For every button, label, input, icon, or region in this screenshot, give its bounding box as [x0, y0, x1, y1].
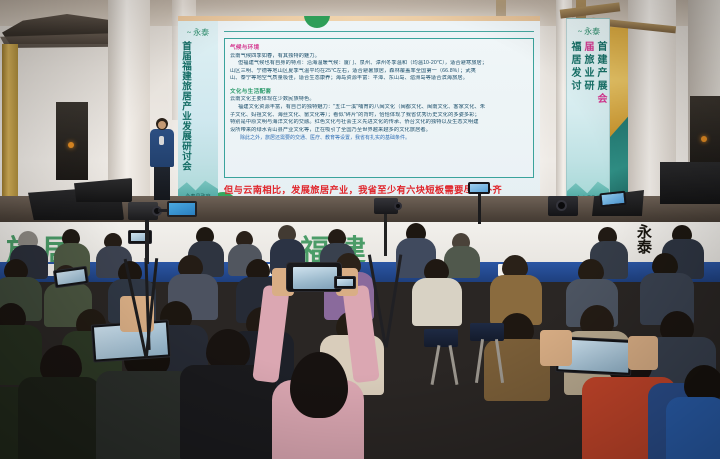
rollup-char: 研 [583, 80, 596, 93]
rollup-char: 展 [596, 80, 609, 93]
line-array-speaker-left [56, 102, 88, 180]
slide-banner-title: 首届福建旅居产业发展研讨会 [179, 41, 217, 169]
camera-lens-icon [556, 200, 567, 211]
slide-divider-line [224, 31, 534, 32]
slide-body-line: 特别是中原文明与海洋文化的交融。红色文化与社会主义先进文化的传承、侨台文化的独特… [230, 119, 528, 127]
speaker-led-indicator [701, 136, 707, 142]
camera-lens-icon [394, 202, 402, 210]
microphone-icon [159, 136, 164, 145]
conference-photo-scene: ~ 永泰 首届福建旅居产业发展研讨会 永泰县政府 气候与环境 云南气候四季如春，… [0, 0, 720, 459]
rollup-char: 届 [583, 41, 596, 54]
foreground-phone-screen [293, 267, 337, 289]
rollup-char: 业 [583, 67, 596, 80]
rollup-banner: ~ 永泰 首届福建旅居产业发展研讨会 永泰县政府 [566, 18, 610, 206]
presenter-face [158, 121, 166, 129]
camera-monitor-screen[interactable] [167, 201, 197, 217]
section-heading-climate: 气候与环境 [230, 43, 528, 51]
audience-hand [628, 336, 658, 370]
slide-body-note: 除此之外，旅居还需要的交通、医疗、教育等设置，我省有扎实的基础条件。 [230, 134, 528, 142]
rollup-char: 福 [570, 41, 583, 54]
chair-leg [449, 345, 459, 385]
tripod-center-column [145, 214, 149, 264]
handheld-phone-recording[interactable] [599, 191, 626, 208]
rollup-char: 旅 [583, 54, 596, 67]
slide-body-line: 云南气候四季如春，有其独特的魅力。 [230, 53, 528, 61]
presenter-jacket [150, 129, 174, 167]
slide-body-line: 子文化、妈祖文化、海丝文化、畲文化等）；看似"碎片"的背时，恰恰体现了我省优秀历… [230, 112, 528, 120]
mounted-phone[interactable] [468, 182, 490, 194]
slide-body-line: 山区三明、宁德等地山区夏季气温平均在25℃左右，适合避暑旅居，森林覆盖率全国第一… [230, 68, 528, 76]
camera-stand-column [384, 212, 387, 256]
slide-body-line: 山、泰宁等地空气质量极佳，适合生态康养；海岛资源丰富：平潭、东山岛、湄洲岛等适合… [230, 75, 528, 83]
stage-equipment-case-right [660, 162, 720, 204]
rollup-banner-title: 首届福建旅居产业发展研讨会 [569, 41, 609, 173]
foreground-person-torso [666, 397, 720, 459]
projection-screen: ~ 永泰 首届福建旅居产业发展研讨会 永泰县政府 气候与环境 云南气候四季如春，… [178, 16, 540, 202]
foreground-person-torso [96, 371, 192, 459]
slide-banner-logo: ~ 永泰 [183, 26, 213, 39]
rollup-char: 居 [570, 54, 583, 67]
slide-content-box: 气候与环境 云南气候四季如春，有其独特的魅力。 但福建气候也有自身的特点：沿海温… [224, 38, 534, 178]
rollup-char: 产 [596, 67, 609, 80]
presenter-on-stage [148, 118, 176, 200]
rollup-char: 首 [596, 41, 609, 54]
foreground-person-torso [18, 377, 100, 459]
rollup-char: 讨 [570, 80, 583, 93]
phone-selfie-stick [478, 190, 481, 224]
chair-leg [475, 339, 484, 383]
green-circle-decor-top [304, 16, 330, 28]
rollup-char: 会 [596, 93, 609, 106]
audience-torso [0, 325, 42, 385]
slide-body-line: 福建文化资源丰富，有自己的独特魅力："五江一溪"哺育的八闽文化（闽都文化、闽南文… [230, 104, 528, 112]
audience-torso [444, 246, 480, 278]
audience-hand [540, 330, 572, 366]
rollup-logo: ~ 永泰 [573, 25, 605, 39]
section-heading-culture: 文化与生活配套 [230, 87, 528, 95]
rollup-char: 建 [596, 54, 609, 67]
chair-leg [431, 345, 441, 385]
screen-top-strip [178, 16, 540, 21]
line-array-speaker-right [690, 96, 720, 172]
chair [470, 323, 504, 341]
chair [424, 329, 458, 347]
slide-body-line: 设所带来的绿水青山县产业文化等，正在吸引了全国乃至世界越来越多的文化旅居者。 [230, 127, 528, 135]
audience-phone-screen [56, 269, 85, 285]
slide-side-banner: ~ 永泰 首届福建旅居产业发展研讨会 永泰县政府 [178, 21, 218, 202]
speaker-led-indicator [68, 142, 74, 148]
foreground-pink-sweater-head [290, 352, 348, 418]
slide-body-line: 但福建气候也有自身的特点：沿海温暖气候：厦门、泉州、漳州冬季温和（均温10-20… [230, 60, 528, 68]
presenter-legs [154, 166, 170, 200]
audience-phone-screen [337, 279, 353, 286]
rollup-char: 发 [570, 67, 583, 80]
audience-torso [412, 278, 462, 326]
audience-phone[interactable] [334, 276, 356, 289]
slide-body-line: 云南文化主要体现在少数民族特色。 [230, 96, 528, 104]
